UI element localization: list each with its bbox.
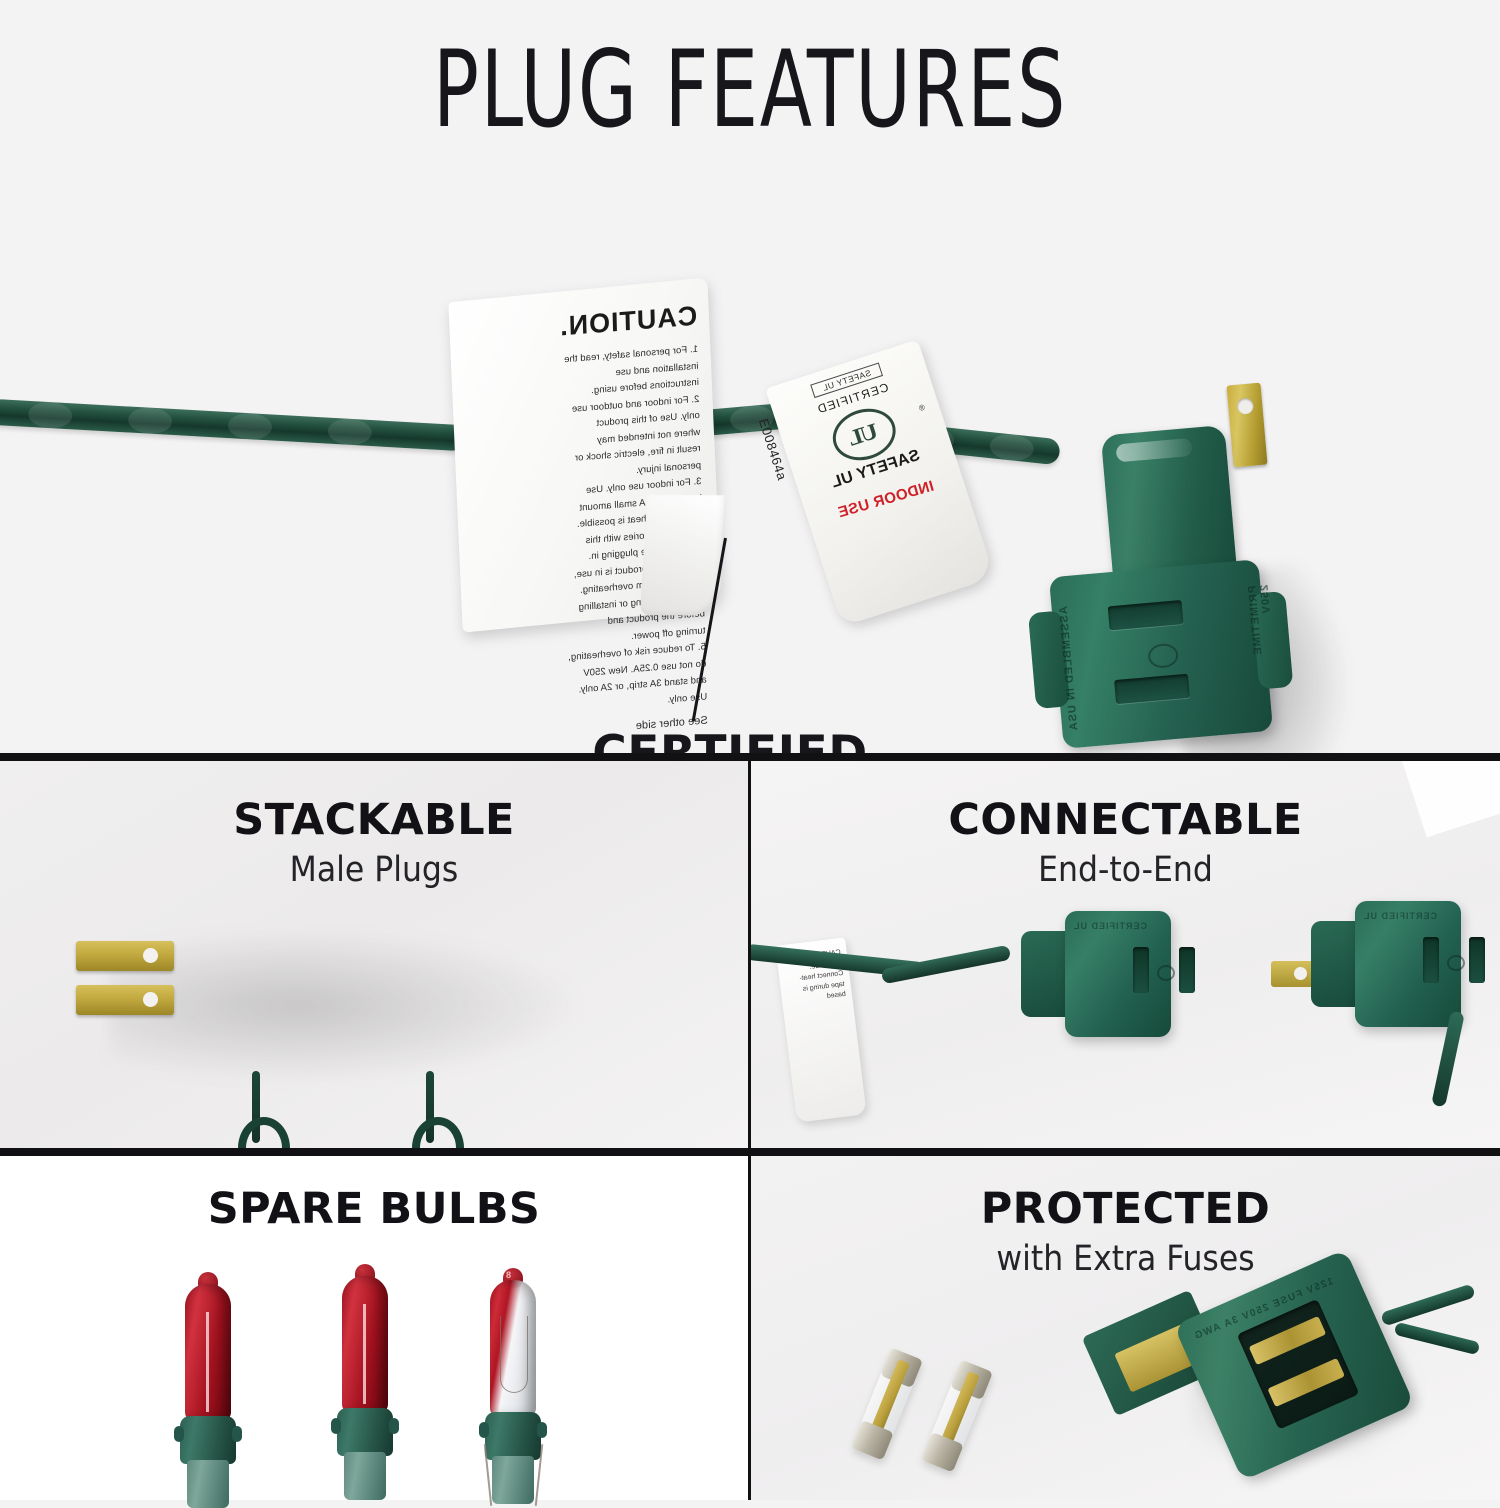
panel-stackable-header: STACKABLE Male Plugs (0, 795, 748, 890)
divider-horizontal (0, 753, 1500, 761)
green-male-plug-icon: ASSEMBLED IN USA PRIMETIME 250V (1040, 390, 1340, 750)
page-title: PLUG FEATURES (150, 34, 1350, 146)
plug-body: ASSEMBLED IN USA PRIMETIME 250V (1049, 559, 1273, 749)
brass-prong-icon (76, 985, 174, 1015)
panel-connectable-subtitle: End-to-End (751, 850, 1500, 890)
panel-protected-title: PROTECTED (751, 1184, 1500, 1234)
divider-horizontal (0, 1148, 1500, 1156)
open-fuse-plug-icon: 125V FUSE 250V 3A AWG (1180, 1270, 1460, 1485)
panel-stackable-title: STACKABLE (0, 795, 748, 845)
ul-certification-tag: SAFETY UL CERTIFIED UL SAFETY UL INDOOR … (765, 339, 994, 626)
fuse-compartment (1237, 1299, 1360, 1430)
panel-stackable: STACKABLE Male Plugs 250V 2AWG 250V 2AWG (0, 761, 748, 1148)
socket-emboss-text: CERTIFIED UL (1073, 921, 1147, 931)
brass-prong-icon (1226, 383, 1267, 468)
stacked-plugs-image: 250V 2AWG 250V 2AWG (90, 911, 670, 1141)
tag-fold-icon (640, 494, 725, 615)
panel-connectable-title: CONNECTABLE (751, 795, 1500, 845)
panel-stackable-subtitle: Male Plugs (0, 850, 748, 890)
panel-connectable: CONNECTABLE End-to-End CAUTION - See oth… (751, 761, 1500, 1148)
female-socket-right: CERTIFIED UL (1311, 901, 1461, 1027)
caution-heading: CAUTION. (466, 297, 698, 354)
ul-emboss-icon (1147, 643, 1179, 670)
infographic-sheet: PLUG FEATURES CAUTION. 1. For personal s… (0, 0, 1500, 1500)
caution-hang-tag: CAUTION. 1. For personal safety, read th… (448, 277, 721, 632)
hero-panel: CAUTION. 1. For personal safety, read th… (0, 140, 1500, 757)
panel-spare-bulbs-header: SPARE BULBS (0, 1184, 748, 1239)
female-socket-left: CERTIFIED UL (1021, 911, 1171, 1037)
brass-prong-icon (76, 941, 174, 971)
panel-spare-bulbs-title: SPARE BULBS (0, 1184, 748, 1234)
cord-loop-icon (238, 1117, 290, 1148)
panel-protected-header: PROTECTED with Extra Fuses (751, 1184, 1500, 1279)
twisted-cord-icon (0, 399, 466, 452)
cord-loop-icon (412, 1117, 464, 1148)
panel-connectable-header: CONNECTABLE End-to-End (751, 795, 1500, 890)
socket-emboss-text: CERTIFIED UL (1363, 911, 1437, 921)
bulb-number-label: 8 (506, 1270, 511, 1280)
